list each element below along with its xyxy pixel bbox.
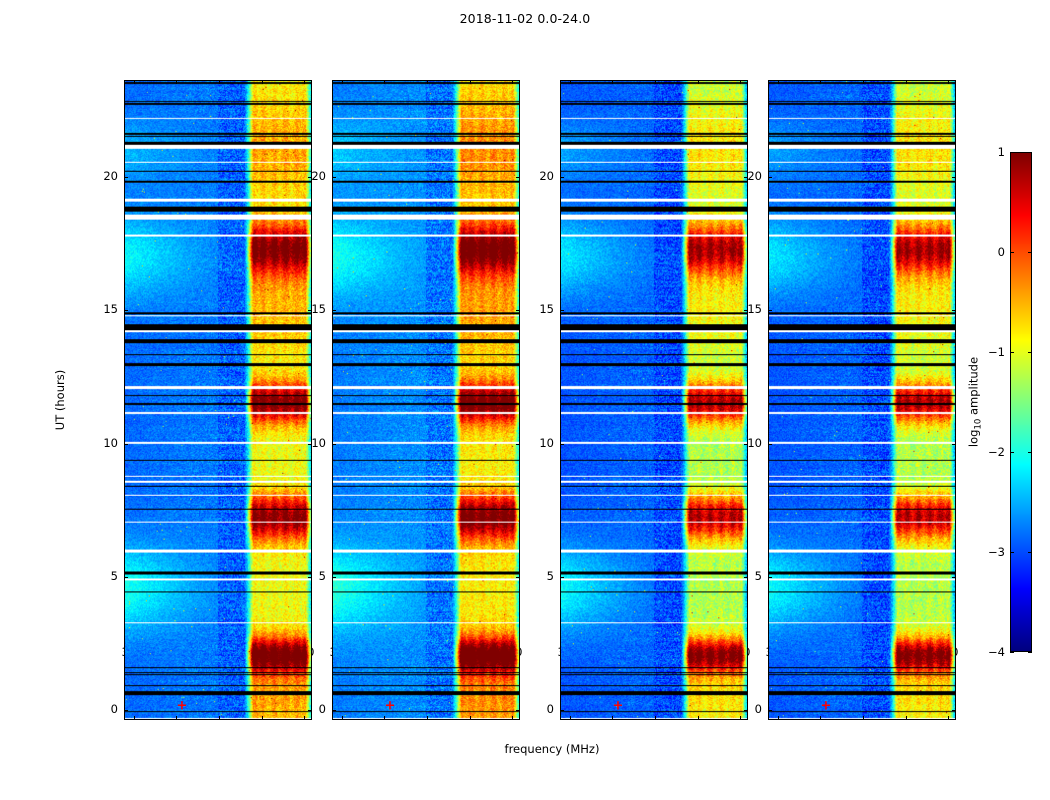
y-tick-mark <box>768 177 772 178</box>
colorbar-label: log10 amplitude <box>966 357 983 447</box>
spectrum-panel-xx[interactable]: XX, V4*V8=EA05*EA15+ <box>124 80 312 720</box>
spectrum-raster <box>125 81 311 719</box>
x-tick-mark <box>655 716 656 720</box>
y-tick-mark <box>332 710 336 711</box>
x-tick-mark <box>740 80 741 84</box>
x-tick-mark <box>304 80 305 84</box>
colorbar-tick-mark <box>1028 552 1032 553</box>
x-tick-mark <box>570 80 571 84</box>
y-tick-mark <box>560 710 564 711</box>
x-tick-mark <box>427 716 428 720</box>
y-tick-mark <box>516 444 520 445</box>
colorbar-tick-mark <box>1010 552 1014 553</box>
y-tick-label: 20 <box>302 169 326 183</box>
x-tick-mark <box>512 80 513 84</box>
x-tick-mark <box>134 80 135 84</box>
x-tick-mark <box>470 716 471 720</box>
x-tick-mark <box>384 80 385 84</box>
y-tick-label: 10 <box>302 436 326 450</box>
colorbar-tick-label: 1 <box>998 145 1005 159</box>
x-tick-mark <box>176 80 177 84</box>
colorbar-tick-mark <box>1028 252 1032 253</box>
x-tick-mark <box>778 716 779 720</box>
colorbar-tick-mark <box>1010 152 1014 153</box>
y-tick-mark <box>516 710 520 711</box>
y-tick-label: 5 <box>738 569 762 583</box>
y-tick-mark <box>768 310 772 311</box>
x-tick-mark <box>342 80 343 84</box>
x-tick-mark <box>612 716 613 720</box>
figure-suptitle: 2018-11-02 0.0-24.0 <box>0 11 1050 26</box>
y-tick-mark <box>560 444 564 445</box>
y-tick-label: 0 <box>94 702 118 716</box>
y-tick-mark <box>560 310 564 311</box>
y-tick-mark <box>952 710 956 711</box>
y-tick-label: 10 <box>738 436 762 450</box>
dynamic-spectrum-image-yy <box>333 81 519 719</box>
colorbar-tick-label: −1 <box>988 345 1005 359</box>
y-tick-mark <box>516 177 520 178</box>
y-tick-mark <box>768 444 772 445</box>
x-tick-mark <box>219 80 220 84</box>
x-tick-mark <box>427 80 428 84</box>
x-axis-label: frequency (MHz) <box>124 742 980 756</box>
x-tick-mark <box>262 80 263 84</box>
colorbar-tick-mark <box>1028 152 1032 153</box>
y-tick-mark <box>516 310 520 311</box>
x-tick-mark <box>342 716 343 720</box>
y-tick-mark <box>952 310 956 311</box>
y-tick-label: 20 <box>530 169 554 183</box>
y-tick-label: 0 <box>302 702 326 716</box>
x-tick-mark <box>134 716 135 720</box>
y-tick-label: 5 <box>530 569 554 583</box>
figure-canvas: 2018-11-02 0.0-24.0 32033535036538005101… <box>0 0 1050 800</box>
y-tick-mark <box>332 177 336 178</box>
y-tick-label: 0 <box>738 702 762 716</box>
dynamic-spectrum-image-xy <box>561 81 747 719</box>
colorbar-label-subscript: 10 <box>974 419 984 430</box>
x-tick-mark <box>948 80 949 84</box>
x-tick-mark <box>698 80 699 84</box>
colorbar-label-tail: amplitude <box>966 357 980 419</box>
y-tick-mark <box>560 177 564 178</box>
y-tick-label: 15 <box>94 302 118 316</box>
y-tick-mark <box>560 577 564 578</box>
x-tick-mark <box>863 716 864 720</box>
y-tick-mark <box>952 177 956 178</box>
colorbar-tick-mark <box>1010 452 1014 453</box>
x-tick-mark <box>384 716 385 720</box>
spectrum-raster <box>769 81 955 719</box>
dynamic-spectrum-image-xx <box>125 81 311 719</box>
colorbar-tick-mark <box>1028 652 1032 653</box>
colorbar-tick-label: −2 <box>988 445 1005 459</box>
y-tick-mark <box>124 444 128 445</box>
x-tick-mark <box>778 80 779 84</box>
y-tick-mark <box>332 444 336 445</box>
y-tick-label: 10 <box>530 436 554 450</box>
y-tick-label: 0 <box>530 702 554 716</box>
x-tick-mark <box>262 716 263 720</box>
y-tick-label: 5 <box>94 569 118 583</box>
colorbar-tick-mark <box>1010 352 1014 353</box>
spectrum-panel-yy[interactable]: YY, V4*V8=EA05*EA15+ <box>332 80 520 720</box>
y-tick-mark <box>332 577 336 578</box>
x-tick-mark <box>820 80 821 84</box>
y-tick-mark <box>124 710 128 711</box>
colorbar-tick-label: 0 <box>998 245 1005 259</box>
x-tick-mark <box>948 716 949 720</box>
x-tick-mark <box>219 716 220 720</box>
colorbar-label-base: log <box>966 430 980 448</box>
y-tick-mark <box>768 710 772 711</box>
spectrum-raster <box>561 81 747 719</box>
x-tick-mark <box>570 716 571 720</box>
y-tick-label: 10 <box>94 436 118 450</box>
colorbar-tick-mark <box>1028 452 1032 453</box>
colorbar-tick-mark <box>1010 252 1014 253</box>
y-tick-mark <box>332 310 336 311</box>
x-tick-mark <box>512 716 513 720</box>
x-tick-mark <box>863 80 864 84</box>
colorbar-tick-mark <box>1010 652 1014 653</box>
y-tick-label: 20 <box>94 169 118 183</box>
y-tick-label: 5 <box>302 569 326 583</box>
y-tick-label: 20 <box>738 169 762 183</box>
spectrum-panel-xy[interactable]: XY, V4*V8=EA05*EA15+ <box>560 80 748 720</box>
y-axis-label: UT (hours) <box>53 370 67 430</box>
x-tick-mark <box>176 716 177 720</box>
y-tick-mark <box>124 177 128 178</box>
spectrum-raster <box>333 81 519 719</box>
x-tick-mark <box>470 80 471 84</box>
colorbar-gradient <box>1010 152 1032 652</box>
y-tick-mark <box>124 577 128 578</box>
colorbar-tick-mark <box>1028 352 1032 353</box>
x-tick-mark <box>698 716 699 720</box>
x-tick-mark <box>612 80 613 84</box>
x-tick-mark <box>906 716 907 720</box>
y-tick-label: 15 <box>738 302 762 316</box>
y-tick-mark <box>124 310 128 311</box>
colorbar-tick-label: −3 <box>988 545 1005 559</box>
y-tick-mark <box>952 577 956 578</box>
dynamic-spectrum-image-yx <box>769 81 955 719</box>
y-tick-label: 15 <box>530 302 554 316</box>
y-tick-label: 15 <box>302 302 326 316</box>
y-tick-mark <box>768 577 772 578</box>
x-tick-mark <box>655 80 656 84</box>
y-tick-mark <box>516 577 520 578</box>
colorbar-tick-label: −4 <box>988 645 1005 659</box>
x-tick-mark <box>820 716 821 720</box>
spectrum-panel-yx[interactable]: YX, V4*V8=EA05*EA15+ <box>768 80 956 720</box>
x-tick-mark <box>740 716 741 720</box>
colorbar: 10−1−2−3−4 <box>1010 152 1032 652</box>
x-tick-mark <box>304 716 305 720</box>
y-tick-mark <box>952 444 956 445</box>
x-tick-mark <box>906 80 907 84</box>
colorbar-raster <box>1011 153 1031 651</box>
